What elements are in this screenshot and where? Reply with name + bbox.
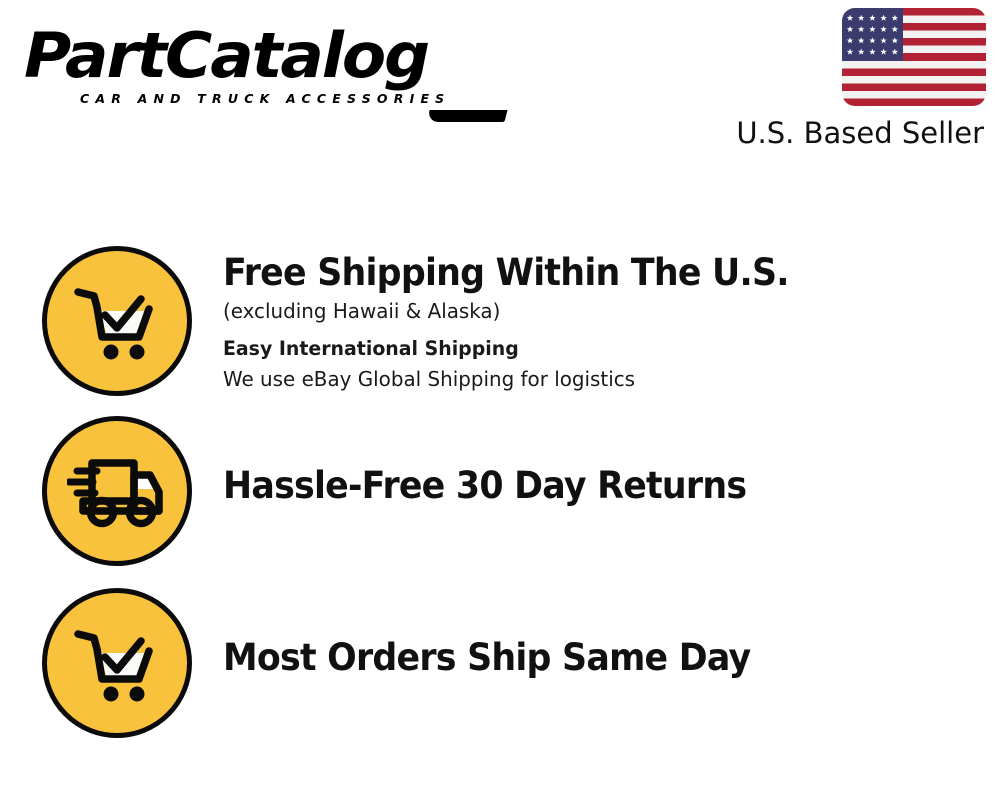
feature-title: Free Shipping Within The U.S.	[223, 250, 953, 296]
shopping-cart-check-icon	[42, 588, 192, 738]
feature-subtitle-detail: We use eBay Global Shipping for logistic…	[223, 364, 977, 394]
brand-logo[interactable]: PartCatalog CAR AND TRUCK ACCESSORIES	[24, 22, 494, 114]
brand-tagline: CAR AND TRUCK ACCESSORIES	[80, 91, 494, 106]
page-header: PartCatalog CAR AND TRUCK ACCESSORIES	[0, 0, 1000, 170]
spacer	[223, 326, 1000, 333]
brand-swoosh-accent	[427, 110, 508, 122]
feature-row: Hassle-Free 30 Day Returns	[0, 416, 1000, 566]
flag-stars	[842, 8, 903, 61]
feature-subtitle: (excluding Hawaii & Alaska)	[223, 296, 977, 326]
feature-text-block: Most Orders Ship Same Day	[223, 588, 1000, 681]
us-flag-icon	[842, 8, 986, 106]
feature-row: Most Orders Ship Same Day	[0, 588, 1000, 738]
feature-text-block: Free Shipping Within The U.S. (excluding…	[223, 246, 1000, 394]
feature-title: Hassle-Free 30 Day Returns	[223, 463, 953, 509]
brand-wordmark: PartCatalog	[24, 22, 513, 90]
delivery-truck-icon	[42, 416, 192, 566]
feature-row: Free Shipping Within The U.S. (excluding…	[0, 246, 1000, 396]
us-based-seller-label: U.S. Based Seller	[716, 116, 984, 150]
shopping-cart-check-icon	[42, 246, 192, 396]
feature-text-block: Hassle-Free 30 Day Returns	[223, 416, 1000, 509]
us-based-seller-block: U.S. Based Seller	[716, 8, 986, 150]
feature-subtitle-strong: Easy International Shipping	[223, 333, 977, 364]
feature-title: Most Orders Ship Same Day	[223, 635, 953, 681]
